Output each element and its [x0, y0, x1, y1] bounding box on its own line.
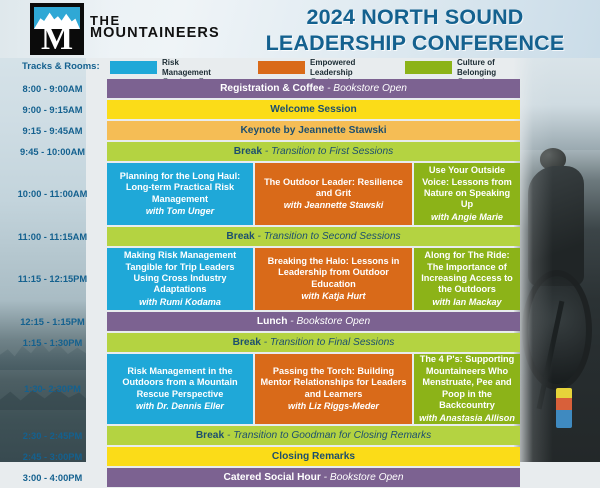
- cell-title: Welcome Session: [270, 104, 356, 115]
- brand-wordmark: THE MOUNTAINEERS: [90, 14, 220, 40]
- schedule-row-cells: Closing Remarks: [107, 446, 520, 467]
- schedule-time-label: 11:15 - 12:15PM: [0, 247, 105, 311]
- session-card[interactable]: Making Risk Management Tangible for Trip…: [107, 248, 253, 310]
- schedule-full-width-cell: Break - Transition to Second Sessions: [107, 227, 520, 246]
- session-card[interactable]: Along for The Ride: The Importance of In…: [414, 248, 520, 310]
- session-card[interactable]: Breaking the Halo: Lessons in Leadership…: [255, 248, 412, 310]
- schedule-time-label: 11:00 - 11:15AM: [0, 226, 105, 247]
- cell-title: Lunch: [257, 316, 288, 327]
- session-presenter: with Jeannette Stawski: [284, 199, 384, 211]
- session-title: Risk Management in the Outdoors from a M…: [112, 366, 248, 400]
- session-title: The 4 P's: Supporting Mountaineers Who M…: [419, 354, 515, 411]
- schedule-row-cells: Planning for the Long Haul: Long-term Pr…: [107, 162, 520, 226]
- cell-title: Break: [226, 231, 254, 242]
- logo-letter-m: M: [30, 23, 84, 55]
- schedule-time-label: 12:15 - 1:15PM: [0, 311, 105, 332]
- session-card[interactable]: The 4 P's: Supporting Mountaineers Who M…: [414, 354, 520, 424]
- schedule-full-width-cell: Break - Transition to Goodman for Closin…: [107, 426, 520, 445]
- legend-track-name: Culture of Belonging: [457, 58, 496, 77]
- poster-header: M THE MOUNTAINEERS 2024 NORTH SOUND LEAD…: [0, 0, 600, 58]
- cell-title: Break: [233, 337, 261, 348]
- cell-subtitle: - Transition to Final Sessions: [261, 337, 394, 348]
- schedule-time-label: 1:15 - 1:30PM: [0, 332, 105, 353]
- schedule-time-label: 10:00 - 11:00AM: [0, 162, 105, 226]
- session-title: Making Risk Management Tangible for Trip…: [112, 250, 248, 296]
- schedule-row: 9:45 - 10:00AMBreak - Transition to Firs…: [0, 141, 600, 162]
- session-presenter: with Rumi Kodama: [139, 296, 221, 308]
- cell-title: Catered Social Hour: [223, 472, 320, 483]
- page-title-line-1: 2024 NORTH SOUND: [240, 4, 590, 30]
- session-title: Passing the Torch: Building Mentor Relat…: [260, 366, 407, 400]
- cell-subtitle: - Bookstore Open: [287, 316, 370, 327]
- schedule-row-cells: Break - Transition to First Sessions: [107, 141, 520, 162]
- schedule-row: 2:45 - 3:00PMClosing Remarks: [0, 446, 600, 467]
- mountaineers-logo: M: [30, 3, 84, 55]
- page-title: 2024 NORTH SOUND LEADERSHIP CONFERENCE: [240, 4, 590, 56]
- schedule-time-label: 8:00 - 9:00AM: [0, 78, 105, 99]
- session-title: Planning for the Long Haul: Long-term Pr…: [112, 171, 248, 205]
- legend-color-swatch: [110, 61, 157, 74]
- schedule-row-cells: Catered Social Hour - Bookstore Open: [107, 467, 520, 488]
- schedule-row: 8:00 - 9:00AMRegistration & Coffee - Boo…: [0, 78, 600, 99]
- brand-line-mountaineers: MOUNTAINEERS: [90, 27, 220, 40]
- schedule-row: 2:30 - 2:45PMBreak - Transition to Goodm…: [0, 425, 600, 446]
- cell-title: Registration & Coffee: [220, 83, 324, 94]
- schedule-row: 1:30- 2:30PMRisk Management in the Outdo…: [0, 353, 600, 425]
- schedule-row-cells: Risk Management in the Outdoors from a M…: [107, 353, 520, 425]
- session-presenter: with Liz Riggs-Meder: [288, 400, 379, 412]
- schedule-row-cells: Making Risk Management Tangible for Trip…: [107, 247, 520, 311]
- schedule-full-width-cell: Catered Social Hour - Bookstore Open: [107, 468, 520, 487]
- cell-subtitle: - Transition to Goodman for Closing Rema…: [224, 430, 431, 441]
- schedule-time-label: 9:45 - 10:00AM: [0, 141, 105, 162]
- tracks-legend-label: Tracks & Rooms:: [22, 61, 100, 72]
- schedule-time-label: 9:00 - 9:15AM: [0, 99, 105, 120]
- schedule-full-width-cell: Registration & Coffee - Bookstore Open: [107, 79, 520, 98]
- session-presenter: with Tom Unger: [146, 205, 214, 217]
- session-card[interactable]: Use Your Outside Voice: Lessons from Nat…: [414, 163, 520, 225]
- schedule-row: 11:15 - 12:15PMMaking Risk Management Ta…: [0, 247, 600, 311]
- session-presenter: with Ian Mackay: [432, 296, 501, 308]
- schedule-full-width-cell: Break - Transition to First Sessions: [107, 142, 520, 161]
- schedule-grid: 8:00 - 9:00AMRegistration & Coffee - Boo…: [0, 78, 600, 488]
- session-card[interactable]: Passing the Torch: Building Mentor Relat…: [255, 354, 412, 424]
- schedule-row-cells: Registration & Coffee - Bookstore Open: [107, 78, 520, 99]
- schedule-row-cells: Lunch - Bookstore Open: [107, 311, 520, 332]
- tracks-legend: Tracks & Rooms: Risk ManagementGoodman B…: [0, 58, 600, 78]
- schedule-time-label: 2:30 - 2:45PM: [0, 425, 105, 446]
- session-card[interactable]: Planning for the Long Haul: Long-term Pr…: [107, 163, 253, 225]
- legend-color-swatch: [258, 61, 305, 74]
- cell-subtitle: - Bookstore Open: [324, 83, 407, 94]
- schedule-row: 11:00 - 11:15AMBreak - Transition to Sec…: [0, 226, 600, 247]
- schedule-time-label: 2:45 - 3:00PM: [0, 446, 105, 467]
- cell-subtitle: - Bookstore Open: [321, 472, 404, 483]
- legend-color-swatch: [405, 61, 452, 74]
- schedule-time-label: 9:15 - 9:45AM: [0, 120, 105, 141]
- cell-title: Keynote by Jeannette Stawski: [240, 125, 386, 136]
- schedule-full-width-cell: Keynote by Jeannette Stawski: [107, 121, 520, 140]
- cell-title: Closing Remarks: [272, 451, 355, 462]
- cell-title: Break: [196, 430, 224, 441]
- schedule-row-cells: Break - Transition to Goodman for Closin…: [107, 425, 520, 446]
- session-presenter: with Dr. Dennis Eller: [136, 400, 224, 412]
- schedule-time-label: 3:00 - 4:00PM: [0, 467, 105, 488]
- schedule-row: 10:00 - 11:00AMPlanning for the Long Hau…: [0, 162, 600, 226]
- schedule-row-cells: Welcome Session: [107, 99, 520, 120]
- page-title-line-2: LEADERSHIP CONFERENCE: [240, 30, 590, 56]
- session-presenter: with Anastasia Allison: [419, 412, 515, 424]
- session-title: Along for The Ride: The Importance of In…: [419, 250, 515, 296]
- schedule-row-cells: Break - Transition to Final Sessions: [107, 332, 520, 353]
- schedule-row: 1:15 - 1:30PMBreak - Transition to Final…: [0, 332, 600, 353]
- session-card[interactable]: Risk Management in the Outdoors from a M…: [107, 354, 253, 424]
- schedule-full-width-cell: Closing Remarks: [107, 447, 520, 466]
- legend-track-name: Risk Management: [162, 58, 211, 77]
- schedule-full-width-cell: Lunch - Bookstore Open: [107, 312, 520, 331]
- cell-subtitle: - Transition to First Sessions: [262, 146, 393, 157]
- legend-track-name: Empowered Leadership: [310, 58, 355, 77]
- schedule-row: 12:15 - 1:15PMLunch - Bookstore Open: [0, 311, 600, 332]
- schedule-full-width-cell: Break - Transition to Final Sessions: [107, 333, 520, 352]
- session-card[interactable]: The Outdoor Leader: Resilience and Gritw…: [255, 163, 412, 225]
- session-title: Use Your Outside Voice: Lessons from Nat…: [419, 165, 515, 211]
- schedule-row: 9:00 - 9:15AMWelcome Session: [0, 99, 600, 120]
- session-title: Breaking the Halo: Lessons in Leadership…: [260, 256, 407, 290]
- schedule-time-label: 1:30- 2:30PM: [0, 353, 105, 425]
- schedule-row-cells: Break - Transition to Second Sessions: [107, 226, 520, 247]
- schedule-row: 9:15 - 9:45AMKeynote by Jeannette Stawsk…: [0, 120, 600, 141]
- session-title: The Outdoor Leader: Resilience and Grit: [260, 177, 407, 200]
- cell-subtitle: - Transition to Second Sessions: [255, 231, 401, 242]
- schedule-row: 3:00 - 4:00PMCatered Social Hour - Books…: [0, 467, 600, 488]
- schedule-row-cells: Keynote by Jeannette Stawski: [107, 120, 520, 141]
- schedule-full-width-cell: Welcome Session: [107, 100, 520, 119]
- conference-schedule-poster: M THE MOUNTAINEERS 2024 NORTH SOUND LEAD…: [0, 0, 600, 462]
- session-presenter: with Katja Hurt: [301, 290, 365, 302]
- session-presenter: with Angie Marie: [431, 211, 503, 223]
- cell-title: Break: [234, 146, 262, 157]
